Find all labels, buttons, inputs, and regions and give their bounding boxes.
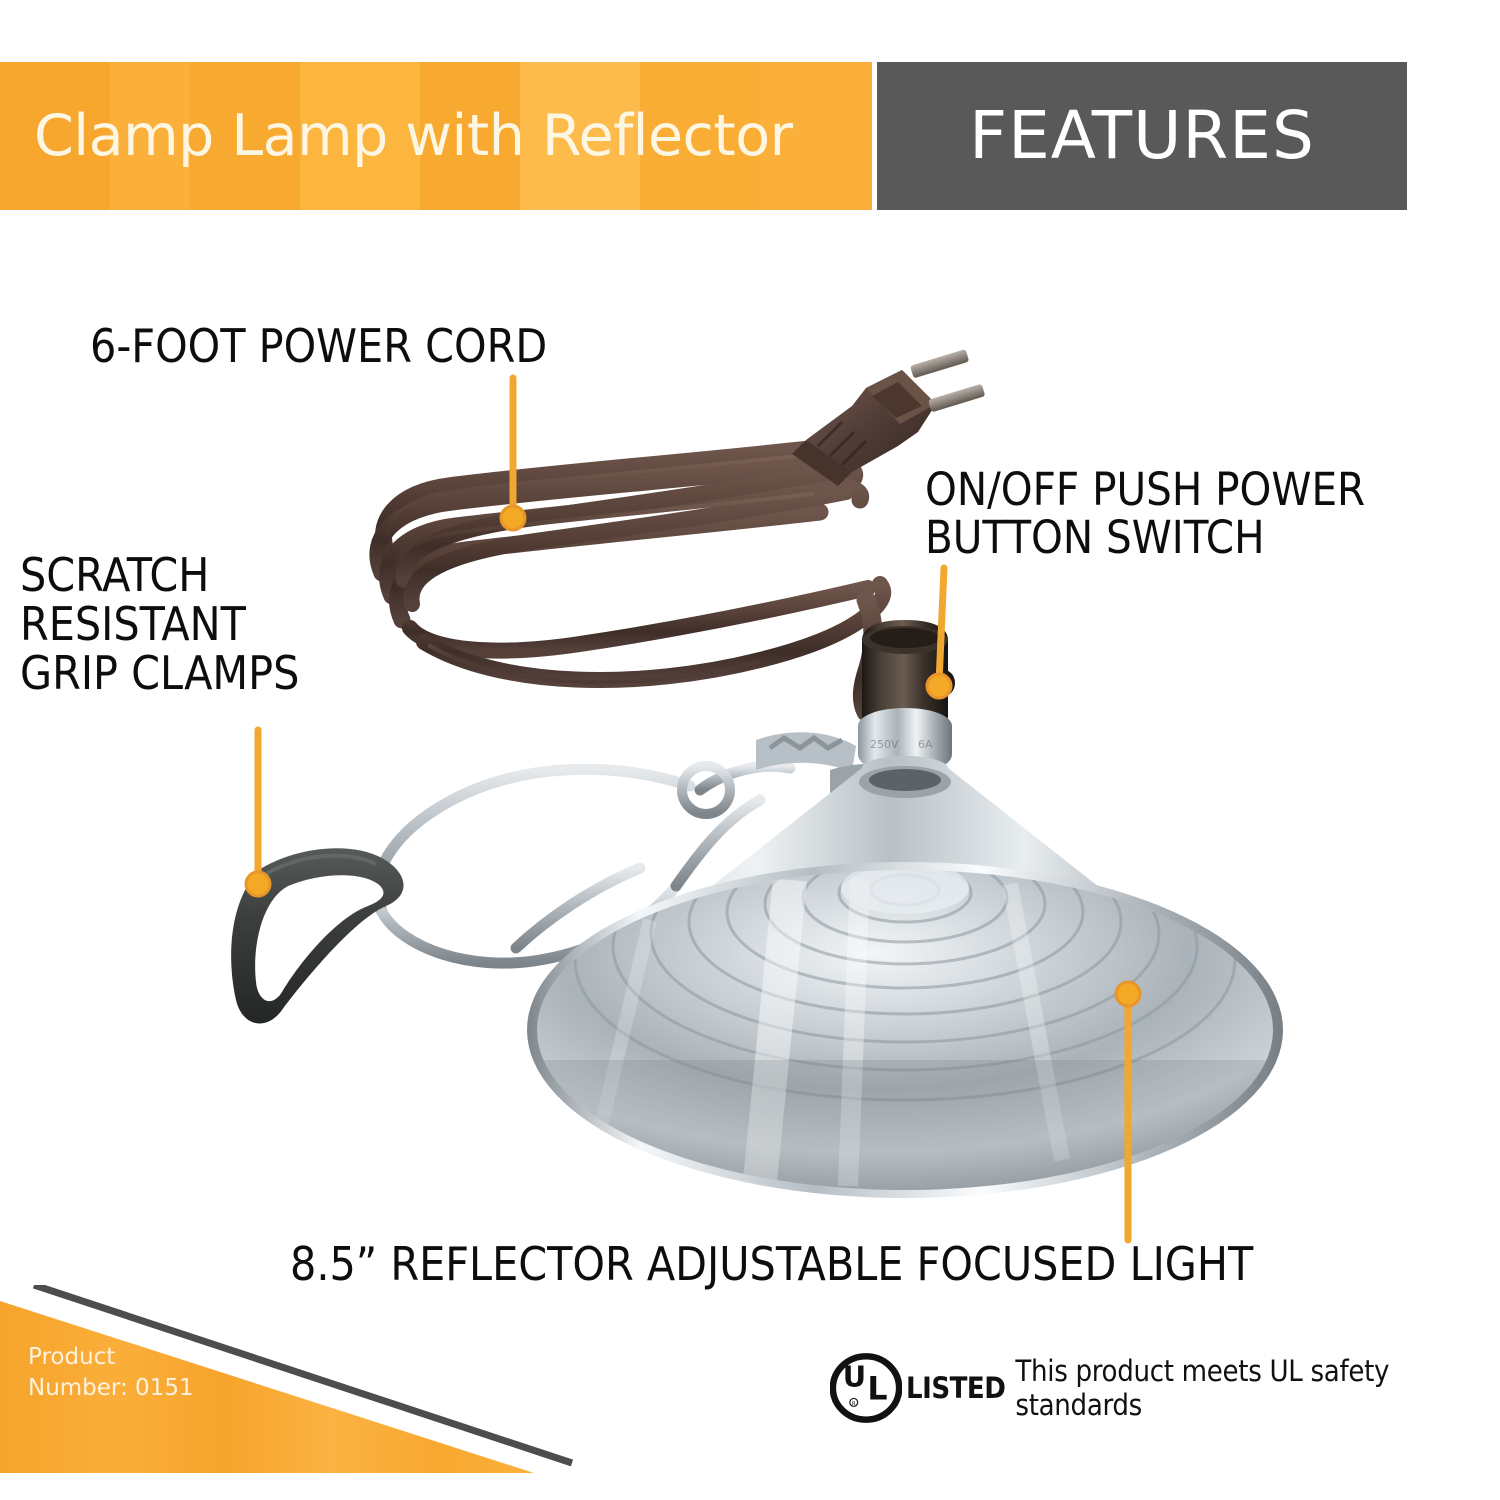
reflector-shade — [527, 756, 1283, 1200]
lamp-socket: 250V6A — [858, 620, 955, 774]
power-cord — [378, 449, 883, 712]
ul-statement: This product meets UL safety standards — [1015, 1354, 1500, 1422]
svg-text:R: R — [852, 1401, 856, 1407]
ul-listed-label: LISTED — [906, 1371, 1005, 1405]
push-switch-button — [933, 670, 955, 696]
svg-text:6A: 6A — [918, 738, 933, 751]
callout-label-power-switch: ON/OFF PUSH POWER BUTTON SWITCH — [925, 466, 1365, 561]
svg-text:U: U — [843, 1360, 866, 1394]
grip-clamp-rubber — [231, 848, 403, 1023]
product-number: Product Number: 0151 — [28, 1342, 288, 1403]
svg-text:250V: 250V — [870, 738, 899, 751]
infographic-canvas: Clamp Lamp with Reflector FEATURES — [0, 0, 1500, 1500]
svg-text:L: L — [867, 1372, 887, 1408]
callout-label-reflector: 8.5” REFLECTOR ADJUSTABLE FOCUSED LIGHT — [290, 1240, 1253, 1289]
callout-label-power-cord: 6-FOOT POWER CORD — [90, 322, 547, 371]
callout-label-grip-clamps: SCRATCH RESISTANT GRIP CLAMPS — [20, 551, 299, 697]
ul-certification: U L R LISTED This product meets UL safet… — [830, 1352, 1500, 1424]
ul-listed-logo-icon: U L R — [830, 1352, 902, 1424]
